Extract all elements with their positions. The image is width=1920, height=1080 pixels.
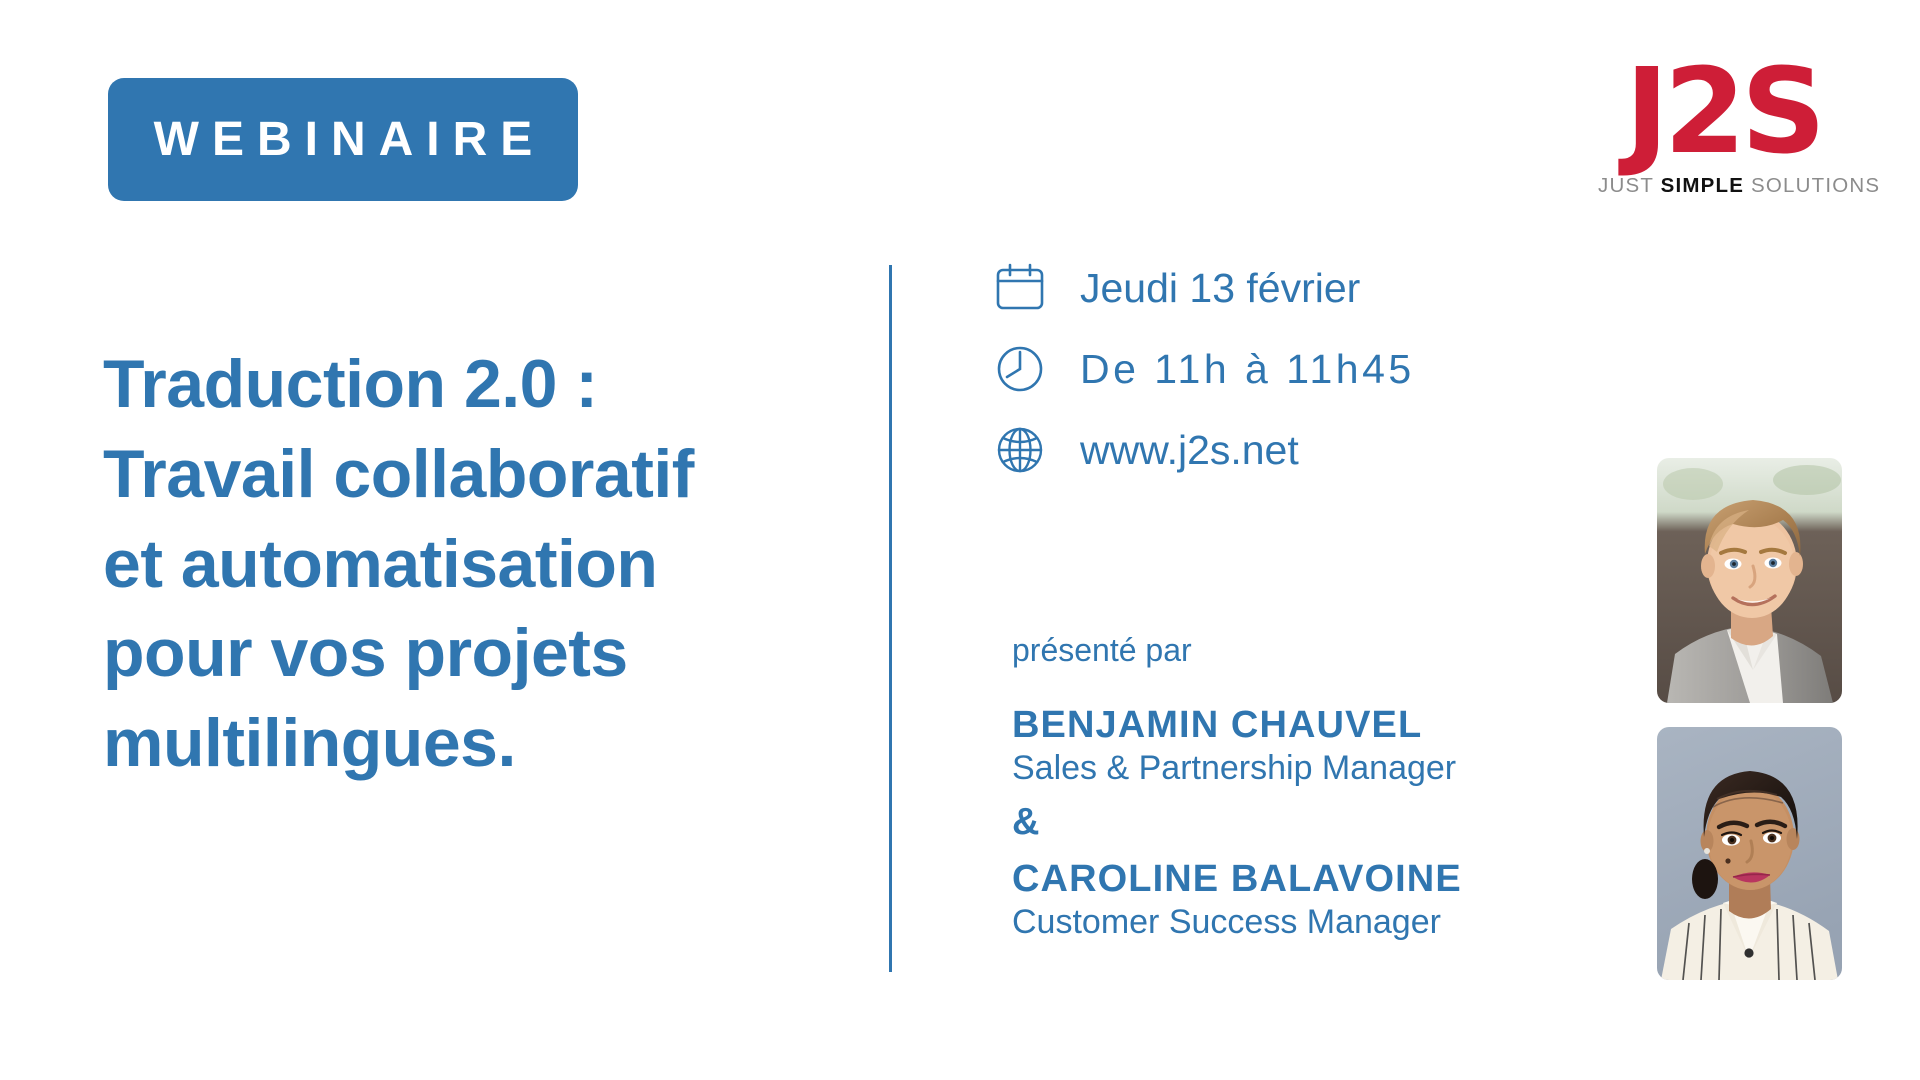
- presenter-role: Customer Success Manager: [1012, 902, 1632, 943]
- webinaire-badge-label: WEBINAIRE: [141, 116, 546, 164]
- headline-line-1: Traduction 2.0 :: [103, 340, 863, 430]
- tagline-word-simple: SIMPLE: [1661, 174, 1745, 197]
- webinaire-badge: WEBINAIRE: [108, 78, 578, 201]
- portrait-caroline: [1657, 727, 1842, 980]
- headline-line-5: multilingues.: [103, 699, 863, 789]
- event-details-list: Jeudi 13 février De 11h à 11h45: [994, 258, 1415, 480]
- portrait-benjamin: [1657, 458, 1842, 703]
- page-title: Traduction 2.0 : Travail collaboratif et…: [103, 340, 863, 789]
- tagline-word-just: JUST: [1598, 174, 1654, 197]
- headline-line-2: Travail collaboratif: [103, 430, 863, 520]
- event-detail-time: De 11h à 11h45: [994, 339, 1415, 399]
- globe-icon: [994, 420, 1056, 480]
- j2s-logo-tagline: JUST SIMPLE SOLUTIONS: [1598, 176, 1848, 197]
- presenter-role: Sales & Partnership Manager: [1012, 748, 1632, 789]
- clock-icon: [994, 339, 1056, 399]
- presenters-block: présenté par BENJAMIN CHAUVEL Sales & Pa…: [1012, 634, 1632, 944]
- calendar-icon: [994, 258, 1056, 318]
- j2s-logo-mark: J2S: [1598, 52, 1848, 170]
- webinar-promo-slide: WEBINAIRE Traduction 2.0 : Travail colla…: [0, 0, 1920, 1080]
- headline-line-4: pour vos projets: [103, 609, 863, 699]
- headline-line-3: et automatisation: [103, 520, 863, 610]
- presenter-name: BENJAMIN CHAUVEL: [1012, 703, 1632, 748]
- event-date-text: Jeudi 13 février: [1080, 268, 1360, 309]
- event-detail-date: Jeudi 13 février: [994, 258, 1415, 318]
- event-website-text[interactable]: www.j2s.net: [1080, 430, 1299, 471]
- event-time-text: De 11h à 11h45: [1080, 349, 1415, 390]
- j2s-logo: J2S JUST SIMPLE SOLUTIONS: [1598, 52, 1848, 207]
- presenter-caroline: CAROLINE BALAVOINE Customer Success Mana…: [1012, 857, 1632, 943]
- presented-by-label: présenté par: [1012, 634, 1632, 666]
- event-detail-website[interactable]: www.j2s.net: [994, 420, 1415, 480]
- vertical-divider: [889, 265, 892, 972]
- tagline-word-solutions: SOLUTIONS: [1751, 174, 1880, 197]
- presenters-conjunction: &: [1012, 803, 1632, 841]
- presenter-name: CAROLINE BALAVOINE: [1012, 857, 1632, 902]
- presenter-benjamin: BENJAMIN CHAUVEL Sales & Partnership Man…: [1012, 703, 1632, 789]
